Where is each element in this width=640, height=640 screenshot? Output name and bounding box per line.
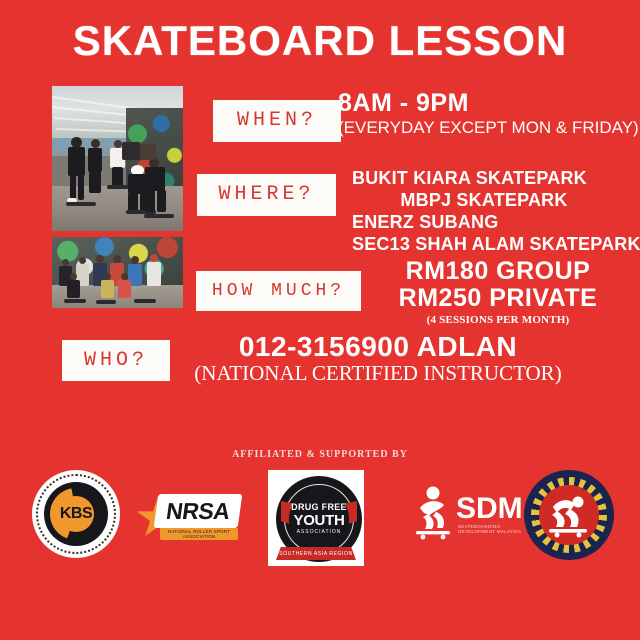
- nrsa-logo: NRSA NATIONAL ROLLER SPORT ASSOCIATION: [134, 482, 242, 548]
- poster-canvas: SKATEBOARD LESSON: [0, 0, 640, 640]
- photo-person-head: [62, 259, 69, 266]
- affiliated-heading: AFFILIATED & SUPPORTED BY: [0, 449, 640, 460]
- contact-phone[interactable]: 012-3156900 ADLAN: [178, 332, 578, 361]
- location-item: SEC13 SHAH ALAM SKATEPARK: [352, 234, 638, 256]
- photo-person-body: [101, 280, 114, 298]
- dfy-banner: SOUTHERN ASIA REGION: [276, 547, 356, 560]
- photo-person-head: [114, 140, 122, 148]
- photo-person-leg: [70, 175, 76, 200]
- photo-person-head: [150, 254, 158, 262]
- price-note: (4 SESSIONS PER MONTH): [358, 314, 638, 326]
- price-private: RM250 PRIVATE: [358, 285, 638, 312]
- photo-person-head: [91, 139, 100, 148]
- skate-badge-logo: [524, 470, 614, 560]
- sdm-subtitle: SKATEBOARDING DEVELOPMENT MALAYSIA: [458, 524, 524, 534]
- kbs-wordmark: KBS: [58, 496, 94, 532]
- skate-lesson-photo: [52, 86, 183, 231]
- photo-person-leg: [112, 167, 123, 187]
- photo-person-leg: [128, 193, 138, 211]
- dfy-line-1: DRUG FREE: [291, 503, 347, 512]
- photo-person-head: [121, 273, 128, 280]
- label-where: WHERE?: [197, 174, 336, 216]
- location-item: ENERZ SUBANG: [352, 212, 638, 234]
- photo-person-leg: [89, 171, 101, 193]
- sdm-logo: SDM SKATEBOARDING DEVELOPMENT MALAYSIA: [410, 484, 528, 546]
- location-item: BUKIT KIARA SKATEPARK: [352, 168, 638, 190]
- answer-how-much: RM180 GROUP RM250 PRIVATE (4 SESSIONS PE…: [358, 258, 638, 326]
- photo-person-head: [104, 273, 111, 280]
- dfy-line-3: ASSOCIATION: [297, 530, 342, 535]
- photo-person-leg: [146, 190, 155, 212]
- when-days: (EVERYDAY EXCEPT MON & FRIDAY): [338, 119, 638, 137]
- photo-person-head: [113, 255, 121, 263]
- page-title: SKATEBOARD LESSON: [0, 20, 640, 62]
- answer-where: BUKIT KIARA SKATEPARK MBPJ SKATEPARK ENE…: [352, 168, 638, 256]
- photo-person-head: [79, 257, 86, 264]
- photo-skateboard: [144, 214, 174, 218]
- dfy-center-text: DRUG FREE YOUTH ASSOCIATION: [289, 489, 349, 549]
- photo-skateboard: [96, 300, 116, 304]
- photo-skateboard: [107, 185, 129, 189]
- photo-person-head: [96, 255, 104, 263]
- nrsa-wordmark: NRSA: [154, 494, 243, 528]
- photo-person-leg: [157, 190, 166, 212]
- photo-person-leg: [78, 175, 84, 200]
- photo-person-body: [122, 142, 140, 160]
- price-group: RM180 GROUP: [358, 258, 638, 285]
- label-when: WHEN?: [213, 100, 341, 142]
- instructor-credential: (NATIONAL CERTIFIED INSTRUCTOR): [178, 362, 578, 385]
- photo-skateboard: [134, 299, 156, 303]
- group-photo: [52, 237, 183, 308]
- photo-skateboard: [64, 299, 86, 303]
- answer-who: 012-3156900 ADLAN (NATIONAL CERTIFIED IN…: [178, 332, 578, 385]
- nrsa-subtitle: NATIONAL ROLLER SPORT ASSOCIATION: [160, 528, 238, 540]
- when-hours: 8AM - 9PM: [338, 90, 638, 117]
- photo-person-body: [145, 167, 165, 191]
- label-how-much: HOW MUCH?: [196, 271, 361, 311]
- location-item: MBPJ SKATEPARK: [352, 190, 638, 212]
- kbs-logo: KBS: [32, 470, 120, 558]
- photo-person-head: [131, 256, 139, 264]
- skateboarder-icon: [539, 485, 599, 545]
- sdm-wordmark: SDM: [456, 494, 523, 524]
- answer-when: 8AM - 9PM (EVERYDAY EXCEPT MON & FRIDAY): [338, 90, 638, 136]
- photo-person-body: [118, 280, 131, 298]
- drug-free-youth-logo: DRUG FREE YOUTH ASSOCIATION SOUTHERN ASI…: [268, 470, 364, 566]
- photo-person-body: [88, 148, 102, 172]
- photo-person-body: [68, 147, 85, 176]
- skateboarder-icon: [410, 484, 456, 540]
- dfy-line-2: YOUTH: [293, 513, 344, 528]
- photo-person-body: [67, 280, 80, 298]
- photo-person-body: [147, 262, 161, 286]
- photo-person-body: [140, 144, 156, 160]
- photo-person-head: [70, 273, 77, 280]
- photo-skateboard: [66, 202, 96, 206]
- affiliate-logo-row: KBS NRSA NATIONAL ROLLER SPORT ASSOCIATI…: [0, 470, 640, 560]
- label-who: WHO?: [62, 340, 170, 381]
